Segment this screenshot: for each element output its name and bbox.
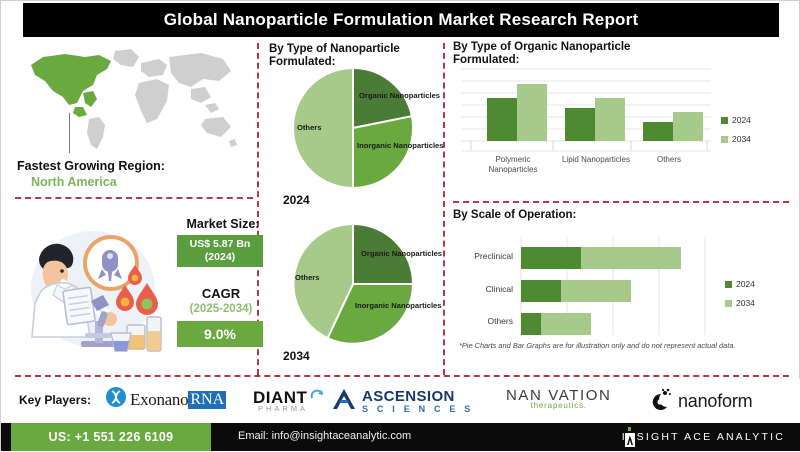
header-bar: Global Nanoparticle Formulation Market R… — [23, 3, 779, 37]
grouped-bar-chart — [461, 67, 711, 153]
hbar-cat-clinical-text: Clinical — [486, 284, 513, 294]
pie-2034-label-others: Others — [295, 273, 319, 282]
pie-2024-label-inorganic: Inorganic Nanoparticles — [357, 141, 444, 150]
footer-email-text[interactable]: Email: info@insightaceanalytic.com — [238, 430, 411, 442]
hbar-legend-item-2024: 2024 — [725, 279, 755, 289]
hbar-section-title: By Scale of Operation: — [453, 209, 683, 222]
left-panel: Fastest Growing Region: North America Ma… — [9, 41, 255, 376]
pie-2024-year: 2024 — [283, 193, 310, 207]
pie-2034-year: 2034 — [283, 349, 310, 363]
hbar-cat-preclinical-text: Preclinical — [474, 251, 513, 261]
hbar-legend-label-2034: 2034 — [736, 298, 755, 308]
pie-2024-organic-text: Organic Nanoparticles — [359, 91, 440, 100]
legend-label-2024: 2024 — [732, 115, 751, 125]
market-size-year: (2024) — [205, 251, 235, 264]
market-size-label: Market Size: — [177, 217, 269, 231]
logo-diant-pharma: DIANT PHARMA — [253, 387, 325, 413]
hbar-legend-swatch-2034 — [725, 300, 732, 307]
cagr-years: (2025-2034) — [171, 303, 271, 315]
pie-chart-2024: Organic Nanoparticles Inorganic Nanopart… — [283, 67, 429, 193]
legend-label-2034: 2034 — [732, 134, 751, 144]
fastest-growing-region-value: North America — [31, 175, 231, 189]
hbar-legend-item-2034: 2034 — [725, 298, 755, 308]
nanoform-particle-icon — [649, 387, 673, 416]
bar-x-label-others-text: Others — [657, 155, 681, 164]
hbar-chart-legend: 2024 2034 — [725, 279, 755, 317]
horizontal-stacked-bar-chart — [519, 237, 709, 335]
bar-x-label-lipid: Lipid Nanoparticles — [551, 155, 641, 165]
hbar-legend-swatch-2024 — [725, 281, 732, 288]
exonanorna-text: Exonano — [130, 390, 188, 410]
pie-2024-inorganic-text: Inorganic Nanoparticles — [357, 141, 444, 150]
nanoform-text: nanoform — [678, 391, 752, 412]
logo-exonanorna: ExonanoRNA — [106, 387, 226, 412]
exonanorna-rna-badge: RNA — [188, 391, 226, 409]
hbar-cat-clinical: Clinical — [443, 284, 513, 294]
cagr-value: 9.0% — [204, 326, 236, 342]
pie-section-title: By Type of Nanoparticle Formulated: — [269, 43, 441, 69]
bar-x-label-polymeric: Polymeric Nanoparticles — [473, 155, 553, 174]
logo-nanoform: nanoform — [649, 387, 752, 416]
pie-2024-label-organic: Organic Nanoparticles — [359, 91, 440, 100]
bar-chart-legend: 2024 2034 — [721, 115, 751, 153]
pie-2024-others-text: Others — [297, 123, 321, 132]
diant-sub-text: PHARMA — [253, 404, 313, 413]
pie-panel: By Type of Nanoparticle Formulated: Orga… — [263, 41, 443, 376]
bar-title-line1: By Type of Organic Nanoparticle — [453, 41, 630, 53]
scientist-microscope-illustration — [15, 217, 165, 372]
legend-item-2034: 2034 — [721, 134, 751, 144]
infographic-frame: Global Nanoparticle Formulation Market R… — [0, 0, 800, 450]
right-panel: By Type of Organic Nanoparticle Formulat… — [449, 41, 797, 376]
hbar-legend-label-2024: 2024 — [736, 279, 755, 289]
ascension-sub-text: S C I E N C E S — [362, 404, 474, 414]
pie-2034-label-organic: Organic Nanoparticles — [361, 249, 442, 258]
logo-nanovation-therapeutics: NAN VATION therapeutics. — [506, 387, 611, 410]
bar-x-label-lipid-text: Lipid Nanoparticles — [562, 155, 630, 164]
ascension-a-icon — [331, 387, 357, 416]
pie-2034-organic-text: Organic Nanoparticles — [361, 249, 442, 258]
cagr-badge: 9.0% — [177, 321, 263, 347]
bar-title-line2: Formulated: — [453, 54, 519, 66]
hbar-cat-others-text: Others — [487, 316, 513, 326]
nanovation-sub-text: therapeutics. — [531, 401, 587, 410]
key-players-label: Key Players: — [19, 393, 91, 407]
pie-title-line1: By Type of Nanoparticle — [269, 43, 400, 55]
legend-item-2024: 2024 — [721, 115, 751, 125]
logo-ascension-sciences: ASCENSION S C I E N C E S — [331, 387, 474, 416]
chart-footnote: *Pie Charts and Bar Graphs are for illus… — [459, 341, 789, 350]
legend-swatch-2034 — [721, 136, 728, 143]
legend-swatch-2024 — [721, 117, 728, 124]
market-size-value: US$ 5.87 Bn — [190, 238, 251, 251]
footer-bar: US: +1 551 226 6109 Email: info@insighta… — [1, 423, 800, 451]
bar-section-title: By Type of Organic Nanoparticle Formulat… — [453, 41, 683, 67]
footer-phone-text: US: +1 551 226 6109 — [49, 430, 174, 444]
pie-chart-2034: Organic Nanoparticles Inorganic Nanopart… — [283, 223, 429, 349]
pie-2034-inorganic-text: Inorganic Nanoparticles — [355, 301, 442, 310]
cagr-label: CAGR — [175, 286, 267, 301]
ascension-text: ASCENSION — [362, 390, 474, 404]
footer-brand-text: INSIGHT ACE ANALYTIC — [622, 431, 785, 443]
world-map-icon — [23, 45, 241, 153]
hbar-cat-preclinical: Preclinical — [443, 251, 513, 261]
map-pointer-line — [69, 113, 70, 153]
pie-2034-others-text: Others — [295, 273, 319, 282]
hbar-cat-others: Others — [443, 316, 513, 326]
page-title: Global Nanoparticle Formulation Market R… — [164, 10, 639, 30]
bar-x-label-others: Others — [639, 155, 699, 165]
key-players-strip: Key Players: ExonanoRNA DIANT — [1, 379, 800, 423]
pie-2034-label-inorganic: Inorganic Nanoparticles — [355, 301, 442, 310]
pie-2024-label-others: Others — [297, 123, 321, 132]
market-size-badge: US$ 5.87 Bn (2024) — [177, 235, 263, 267]
fastest-growing-region-label: Fastest Growing Region: — [17, 159, 217, 173]
bar-x-label-polymeric-text: Polymeric Nanoparticles — [489, 155, 538, 174]
exonanorna-mark-icon — [106, 387, 126, 412]
footer-phone-box[interactable]: US: +1 551 226 6109 — [11, 423, 211, 451]
